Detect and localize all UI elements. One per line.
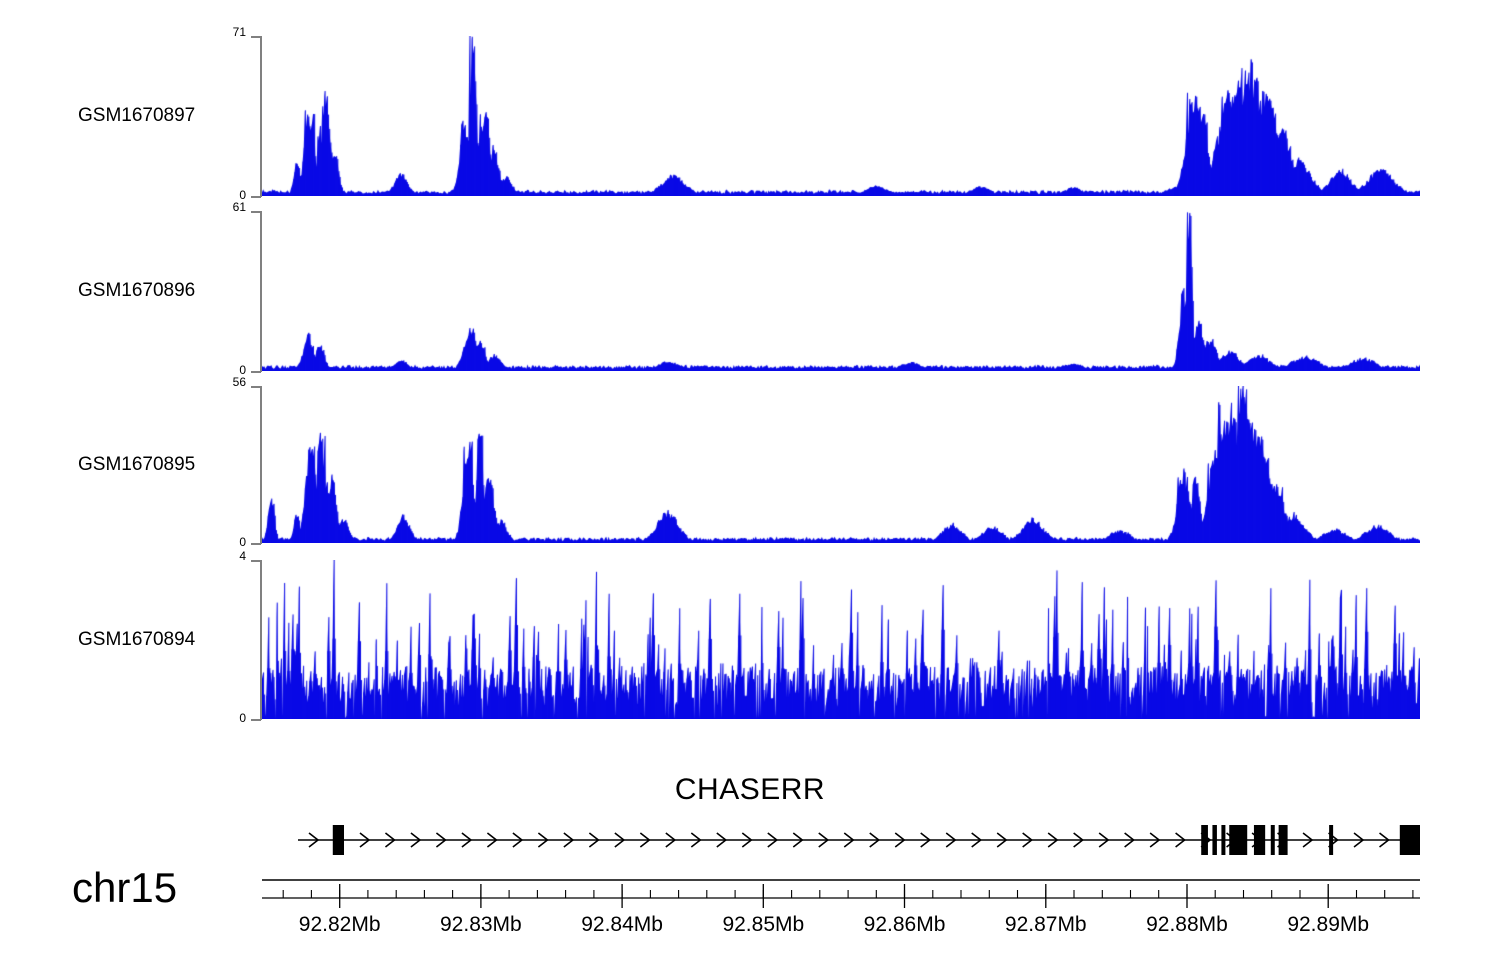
exon-0 [333, 825, 344, 855]
ruler-svg[interactable] [0, 870, 1500, 910]
y-axis-tick-zero [251, 543, 261, 545]
y-axis-tick-max [251, 560, 261, 562]
track-label-gsm1670896: GSM1670896 [78, 281, 238, 300]
exon-4 [1229, 825, 1247, 855]
y-axis-tick-max [251, 36, 261, 38]
exon-8 [1329, 825, 1333, 855]
gene-model-svg[interactable] [0, 810, 1500, 870]
ruler-tick-label: 92.84Mb [552, 914, 692, 936]
ruler-tick-label: 92.86Mb [835, 914, 975, 936]
exon-2 [1212, 825, 1216, 855]
exon-1 [1201, 825, 1208, 855]
ruler-tick-label: 92.82Mb [270, 914, 410, 936]
genome-browser-page: GSM1670897710GSM1670896610GSM1670895560G… [0, 0, 1500, 980]
ruler-tick-label: 92.85Mb [693, 914, 833, 936]
ruler-tick-label: 92.89Mb [1258, 914, 1398, 936]
gene-name-label: CHASERR [0, 774, 1500, 806]
y-axis-tick-max [251, 386, 261, 388]
exon-3 [1221, 825, 1225, 855]
track-label-gsm1670897: GSM1670897 [78, 106, 238, 125]
y-axis-tick-zero [251, 719, 261, 721]
y-axis-max-value: 56 [202, 376, 246, 388]
ruler-tick-label: 92.83Mb [411, 914, 551, 936]
gene-model-region: CHASERR [0, 760, 1500, 880]
coverage-plot-gsm1670895[interactable] [262, 386, 1420, 543]
track-label-gsm1670895: GSM1670895 [78, 455, 238, 474]
y-axis-min-value: 0 [202, 712, 246, 724]
y-axis-min-value: 0 [202, 536, 246, 548]
exon-9 [1400, 825, 1420, 855]
y-axis-max-value: 71 [202, 26, 246, 38]
y-axis-tick-zero [251, 371, 261, 373]
exon-7 [1279, 825, 1288, 855]
y-axis-max-value: 61 [202, 201, 246, 213]
ruler-tick-label: 92.87Mb [976, 914, 1116, 936]
coverage-plot-gsm1670894[interactable] [262, 560, 1420, 719]
exon-6 [1271, 825, 1275, 855]
y-axis-max-value: 4 [202, 550, 246, 562]
y-axis-tick-zero [251, 196, 261, 198]
y-axis-tick-max [251, 211, 261, 213]
ruler-tick-label: 92.88Mb [1117, 914, 1257, 936]
exon-5 [1254, 825, 1265, 855]
coverage-plot-gsm1670897[interactable] [262, 36, 1420, 196]
coverage-plot-gsm1670896[interactable] [262, 211, 1420, 371]
track-label-gsm1670894: GSM1670894 [78, 630, 238, 649]
